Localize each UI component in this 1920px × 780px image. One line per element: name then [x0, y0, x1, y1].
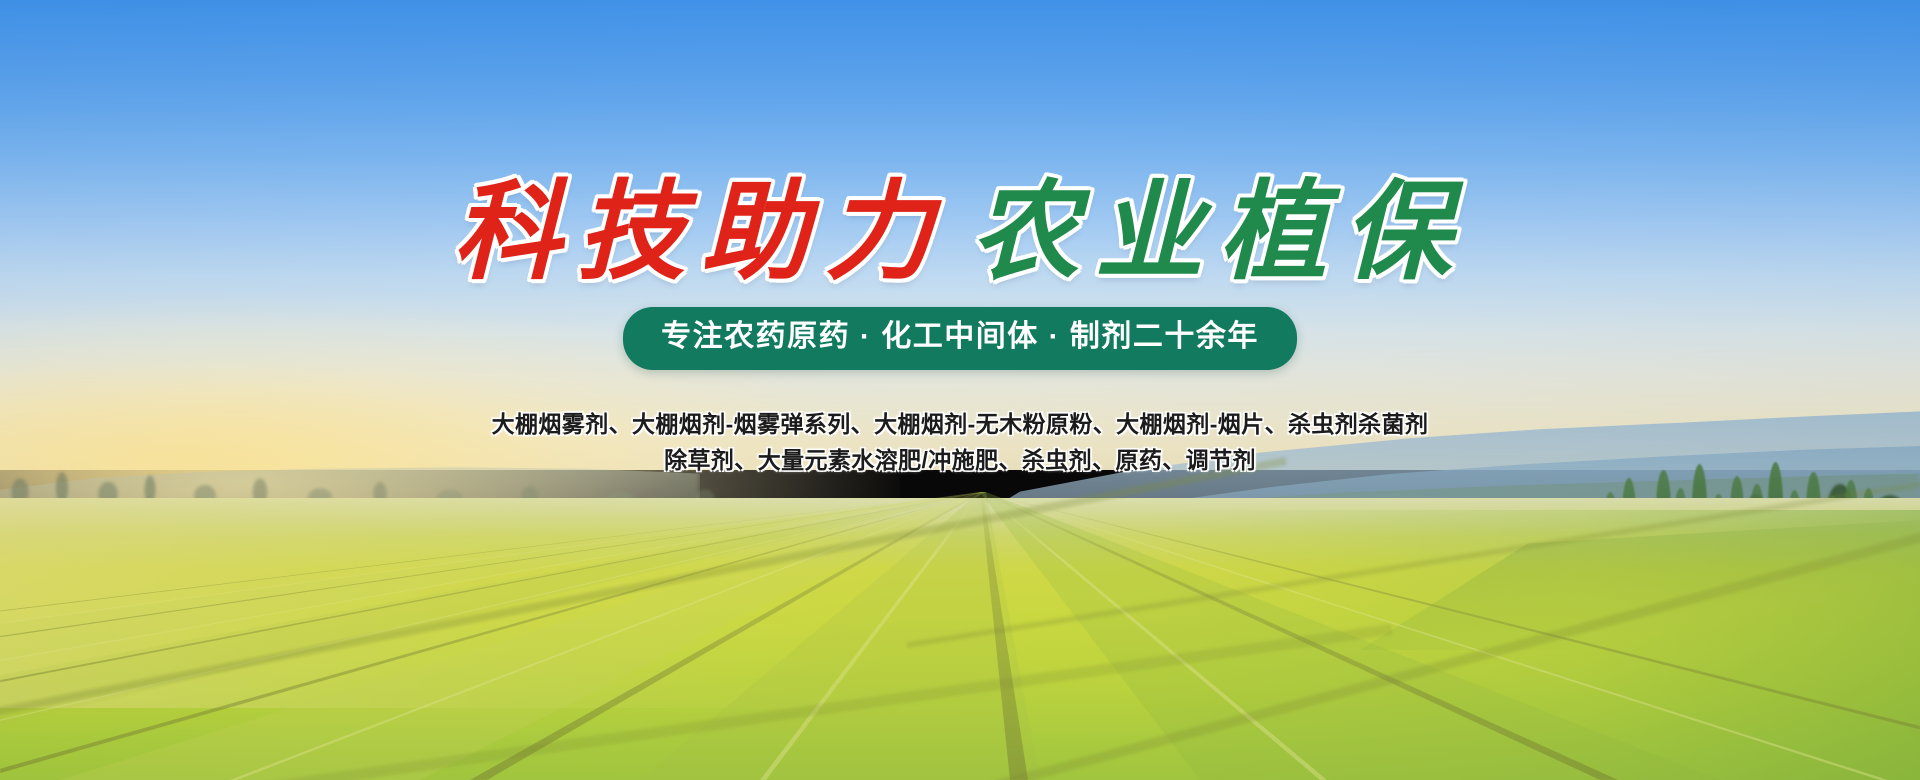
headline: 科技助力农业植保: [0, 176, 1920, 289]
banner-content: 科技助力农业植保 专注农药原药 · 化工中间体 · 制剂二十余年 大棚烟雾剂、大…: [0, 0, 1920, 780]
description-line-2: 除草剂、大量元素水溶肥/冲施肥、杀虫剂、原药、调节剂: [0, 442, 1920, 478]
subtitle-pill: 专注农药原药 · 化工中间体 · 制剂二十余年: [623, 307, 1297, 370]
subtitle-pill-wrapper: 专注农药原药 · 化工中间体 · 制剂二十余年: [0, 307, 1920, 370]
headline-red-part: 科技助力: [453, 176, 949, 289]
description-line-1: 大棚烟雾剂、大棚烟剂-烟雾弹系列、大棚烟剂-无木粉原粉、大棚烟剂-烟片、杀虫剂杀…: [0, 406, 1920, 442]
hero-banner: 科技助力农业植保 专注农药原药 · 化工中间体 · 制剂二十余年 大棚烟雾剂、大…: [0, 0, 1920, 780]
product-description: 大棚烟雾剂、大棚烟剂-烟雾弹系列、大棚烟剂-无木粉原粉、大棚烟剂-烟片、杀虫剂杀…: [0, 406, 1920, 478]
headline-green-part: 农业植保: [971, 176, 1467, 289]
